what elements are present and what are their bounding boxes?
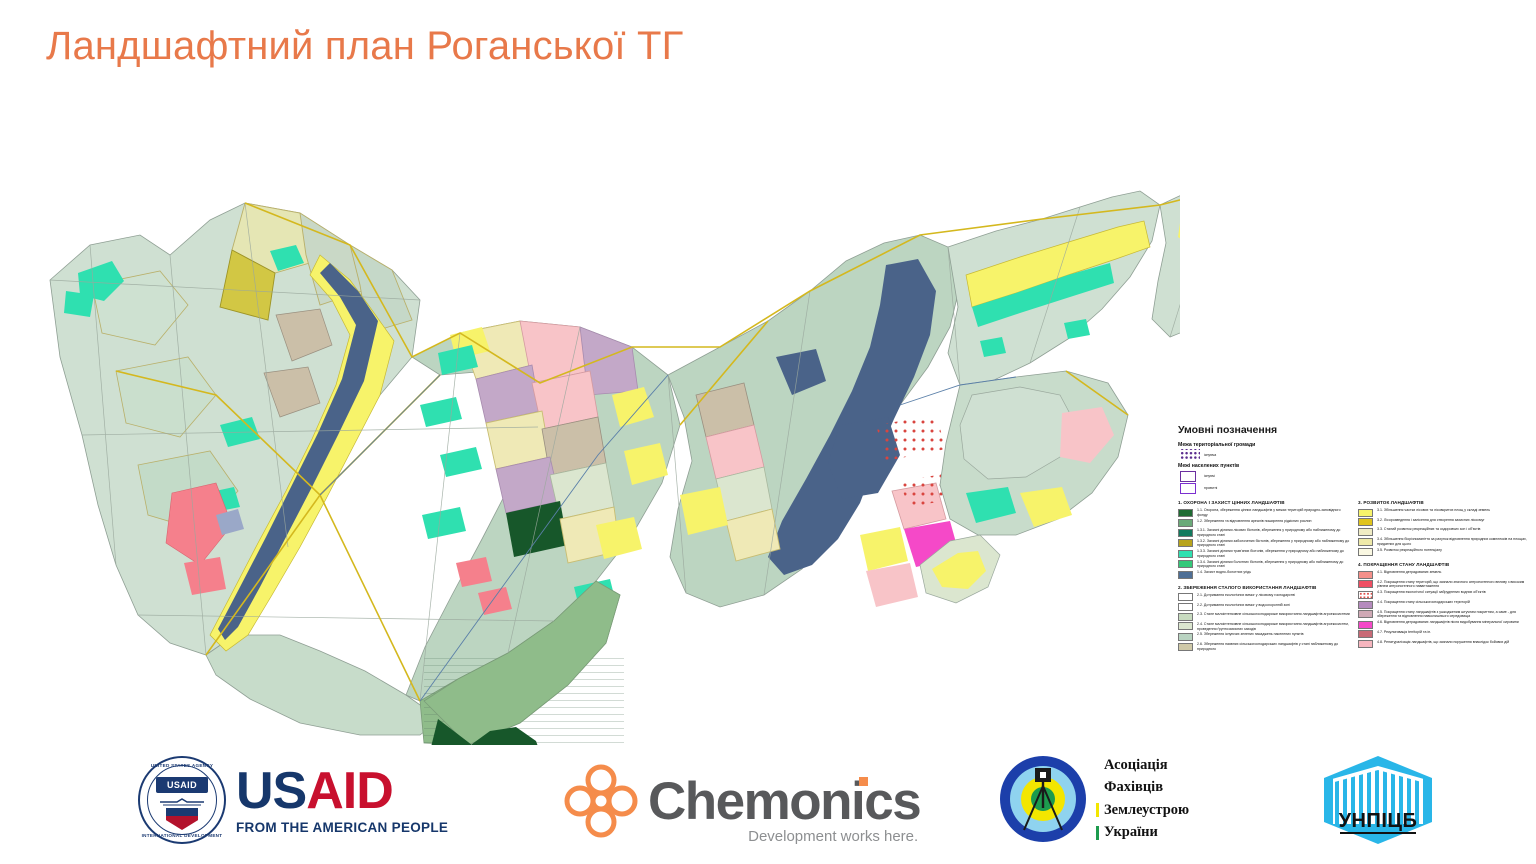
legend-item-label: 2.3. Стале малоінтенсивне сільськогоспод… bbox=[1197, 612, 1350, 617]
usaid-tagline: FROM THE AMERICAN PEOPLE bbox=[236, 820, 448, 835]
legend-item-label: 1.1. Охорона, збереження цінних ландшафт… bbox=[1197, 508, 1350, 517]
legend-item[interactable]: 4.7. Рекультивація territорій та ін. bbox=[1358, 630, 1530, 639]
legend-item-label: 2.2. Дотримання екологічних вимог у водо… bbox=[1197, 603, 1350, 608]
legend-item[interactable]: 2.3. Стале малоінтенсивне сільськогоспод… bbox=[1178, 612, 1350, 621]
dotted-boundary-icon bbox=[1180, 449, 1200, 460]
legend-item[interactable]: 3.1. Збільшення частки лісових та лісовк… bbox=[1358, 508, 1530, 517]
usaid-seal-bottom-text: INTERNATIONAL DEVELOPMENT bbox=[140, 833, 224, 838]
afzu-green-bar bbox=[1096, 826, 1099, 840]
dotted-color-swatch bbox=[1358, 591, 1373, 599]
color-swatch bbox=[1358, 518, 1373, 526]
usaid-word-aid: AID bbox=[306, 762, 393, 820]
legend-item[interactable]: 1.2. Збереження та відновлення ареалів п… bbox=[1178, 519, 1350, 528]
boundary-group-settlements: Межі населених пунктів bbox=[1178, 463, 1530, 469]
legend-item[interactable]: 1.3.4. Захисні ділянки болотних біотопів… bbox=[1178, 560, 1350, 569]
color-swatch bbox=[1178, 529, 1193, 537]
legend-item-label: 4.3. Покращення екологічної ситуації заб… bbox=[1377, 590, 1530, 595]
logo-bar: UNITED STATES AGENCY USAID INTERNATIONAL… bbox=[0, 748, 1536, 858]
legend-item[interactable]: 3.4. Збільшення біорізноманіття за рахун… bbox=[1358, 537, 1530, 546]
theodolite-icon bbox=[1000, 756, 1086, 842]
usaid-seal-icon: UNITED STATES AGENCY USAID INTERNATIONAL… bbox=[138, 756, 226, 844]
legend-item[interactable]: 3.3. Сталий розвиток рекреаційних та озд… bbox=[1358, 527, 1530, 536]
legend-item-label: 1.4. Захист водно-болотних угідь bbox=[1197, 570, 1350, 575]
box-boundary-icon bbox=[1180, 470, 1200, 481]
color-swatch bbox=[1358, 538, 1373, 546]
legend-item-label: 1.3.2. Захисні ділянки заболочених біото… bbox=[1197, 539, 1350, 548]
legend-item[interactable]: 1.3.1. Захисні ділянки лісових біотопів,… bbox=[1178, 528, 1350, 537]
color-swatch bbox=[1178, 613, 1193, 621]
legend-item[interactable]: 4.3. Покращення екологічної ситуації заб… bbox=[1358, 590, 1530, 599]
chemonics-tagline: Development works here. bbox=[748, 828, 918, 845]
afzu-logo: Асоціація Фахівців Землеустрою України bbox=[1000, 754, 1189, 844]
legend-item-label: 4.2. Покращення стану територій, що зазн… bbox=[1377, 580, 1530, 589]
page-title: Ландшафтний план Роганської ТГ bbox=[46, 24, 684, 69]
unpicb-logo: УНПІЦБ bbox=[1318, 754, 1438, 846]
landscape-map[interactable] bbox=[20, 95, 1180, 745]
legend-item-label: 2.4. Стале малоінтенсивне сільськогоспод… bbox=[1197, 622, 1350, 631]
legend-item-label: 2.6. Збереження наявних сільськогосподар… bbox=[1197, 642, 1350, 651]
usaid-word-us: US bbox=[236, 762, 306, 820]
legend-section-2-heading: 2. ЗБЕРЕЖЕННЯ СТАЛОГО ВИКОРИСТАННЯ ЛАНДШ… bbox=[1178, 585, 1350, 590]
legend-item[interactable]: 2.1. Дотримання екологічних вимог у лісо… bbox=[1178, 593, 1350, 602]
color-swatch bbox=[1358, 571, 1373, 579]
legend-item[interactable]: 2.5. Збереження існуючих зелених насадже… bbox=[1178, 632, 1350, 641]
afzu-yellow-bar bbox=[1096, 803, 1099, 817]
color-swatch bbox=[1358, 528, 1373, 536]
map-svg bbox=[20, 95, 1180, 745]
color-swatch bbox=[1178, 550, 1193, 558]
legend-item[interactable]: 1.1. Охорона, збереження цінних ландшафт… bbox=[1178, 508, 1350, 517]
legend-item[interactable]: 2.4. Стале малоінтенсивне сільськогоспод… bbox=[1178, 622, 1350, 631]
color-swatch bbox=[1358, 621, 1373, 629]
color-swatch bbox=[1358, 580, 1373, 588]
map-legend: Умовні позначення Межа територіальної гр… bbox=[1178, 424, 1530, 744]
usaid-logo: UNITED STATES AGENCY USAID INTERNATIONAL… bbox=[138, 756, 448, 844]
legend-item[interactable]: 4.5. Покращення стану ландшафтів з ушкод… bbox=[1358, 610, 1530, 619]
legend-item[interactable]: 4.8. Ренатуралізація ландшафтів, що зазн… bbox=[1358, 640, 1530, 649]
legend-section-3-items: 3.1. Збільшення частки лісових та лісовк… bbox=[1358, 508, 1530, 556]
legend-item-label: 3.5. Розвиток рекреаційного потенціалу bbox=[1377, 548, 1530, 553]
usaid-seal-top-text: UNITED STATES AGENCY bbox=[140, 763, 224, 768]
color-swatch bbox=[1178, 571, 1193, 579]
legend-item[interactable]: 2.6. Збереження наявних сільськогосподар… bbox=[1178, 642, 1350, 651]
boundary-label: існуюча bbox=[1204, 453, 1216, 457]
color-swatch bbox=[1178, 539, 1193, 547]
usaid-wordmark: USAID FROM THE AMERICAN PEOPLE bbox=[236, 765, 448, 835]
afzu-line-3: Землеустрою bbox=[1104, 799, 1189, 821]
legend-item-label: 4.1. Відновлення деградованих земель bbox=[1377, 570, 1530, 575]
legend-section-4-heading: 4. ПОКРАЩЕННЯ СТАНУ ЛАНДШАФТІВ bbox=[1358, 562, 1530, 567]
legend-item[interactable]: 4.4. Покращення стану сільськогосподарсь… bbox=[1358, 600, 1530, 609]
color-swatch bbox=[1358, 548, 1373, 556]
legend-section-2-items: 2.1. Дотримання екологічних вимог у лісо… bbox=[1178, 593, 1350, 652]
color-swatch bbox=[1178, 519, 1193, 527]
color-swatch bbox=[1358, 610, 1373, 618]
legend-item[interactable]: 1.3.3. Захисні ділянки трав'яних біотопі… bbox=[1178, 549, 1350, 558]
legend-item-label: 4.5. Покращення стану ландшафтів з ушкод… bbox=[1377, 610, 1530, 619]
legend-title: Умовні позначення bbox=[1178, 424, 1530, 436]
color-swatch bbox=[1358, 601, 1373, 609]
afzu-line-4: України bbox=[1104, 821, 1158, 843]
usaid-seal-word: USAID bbox=[167, 780, 197, 790]
legend-boundaries: Межа територіальної громади існуюча Межі… bbox=[1178, 442, 1530, 493]
boundary-item-settlement-existing[interactable]: існуючі bbox=[1180, 470, 1530, 481]
legend-item[interactable]: 4.6. Відновлення деградованих ландшафтів… bbox=[1358, 620, 1530, 629]
legend-item-label: 2.1. Дотримання екологічних вимог у лісо… bbox=[1197, 593, 1350, 598]
boundary-label: існуючі bbox=[1204, 474, 1215, 478]
chemonics-wordmark: Chemonics bbox=[648, 775, 920, 828]
legend-section-4-items: 4.1. Відновлення деградованих земель 4.2… bbox=[1358, 570, 1530, 648]
legend-item-label: 2.5. Збереження існуючих зелених насадже… bbox=[1197, 632, 1350, 637]
boundary-group-community: Межа територіальної громади bbox=[1178, 442, 1530, 448]
legend-column-left: 1. ОХОРОНА І ЗАХИСТ ЦІННИХ ЛАНДШАФТІВ 1.… bbox=[1178, 498, 1350, 653]
legend-item-label: 3.1. Збільшення частки лісових та лісовк… bbox=[1377, 508, 1530, 513]
color-swatch bbox=[1178, 622, 1193, 630]
color-swatch bbox=[1178, 509, 1193, 517]
legend-item-label: 3.2. Лісорозведення і залісення для ство… bbox=[1377, 518, 1530, 523]
unpicb-wordmark: УНПІЦБ bbox=[1318, 810, 1438, 833]
color-swatch bbox=[1178, 603, 1193, 611]
afzu-text-block: Асоціація Фахівців Землеустрою України bbox=[1096, 754, 1189, 844]
legend-item-label: 4.6. Відновлення деградованих ландшафтів… bbox=[1377, 620, 1530, 625]
legend-section-1-heading: 1. ОХОРОНА І ЗАХИСТ ЦІННИХ ЛАНДШАФТІВ bbox=[1178, 500, 1350, 505]
boundary-label: проектні bbox=[1204, 486, 1217, 490]
slide-root: Ландшафтний план Роганської ТГ bbox=[0, 0, 1536, 864]
color-swatch bbox=[1178, 560, 1193, 568]
legend-section-3-heading: 3. РОЗВИТОК ЛАНДШАФТІВ bbox=[1358, 500, 1530, 505]
handshake-icon bbox=[159, 797, 205, 806]
legend-item[interactable]: 4.2. Покращення стану територій, що зазн… bbox=[1358, 580, 1530, 589]
legend-item-label: 1.3.1. Захисні ділянки лісових біотопів,… bbox=[1197, 528, 1350, 537]
theodolite-badge-icon bbox=[1000, 756, 1086, 842]
legend-item[interactable]: 1.3.2. Захисні ділянки заболочених біото… bbox=[1178, 539, 1350, 548]
legend-item[interactable]: 3.2. Лісорозведення і залісення для ство… bbox=[1358, 518, 1530, 527]
legend-item-label: 1.3.3. Захисні ділянки трав'яних біотопі… bbox=[1197, 549, 1350, 558]
legend-section-1-items: 1.1. Охорона, збереження цінних ландшафт… bbox=[1178, 508, 1350, 579]
map-base-layer bbox=[50, 157, 1180, 745]
legend-item-label: 1.3.4. Захисні ділянки болотних біотопів… bbox=[1197, 560, 1350, 569]
color-swatch bbox=[1178, 643, 1193, 651]
chemonics-accent-dot bbox=[859, 777, 868, 786]
afzu-line-2: Фахівців bbox=[1104, 776, 1163, 798]
legend-columns: 1. ОХОРОНА І ЗАХИСТ ЦІННИХ ЛАНДШАФТІВ 1.… bbox=[1178, 498, 1530, 653]
chemonics-clover-icon bbox=[562, 762, 640, 840]
legend-item-label: 4.7. Рекультивація territорій та ін. bbox=[1377, 630, 1530, 635]
legend-item-label: 4.8. Ренатуралізація ландшафтів, що зазн… bbox=[1377, 640, 1530, 645]
chemonics-logo: Chemonics Development works here. bbox=[562, 762, 920, 840]
color-swatch bbox=[1178, 633, 1193, 641]
boundary-item-settlement-planned[interactable]: проектні bbox=[1180, 482, 1530, 493]
legend-item[interactable]: 3.5. Розвиток рекреаційного потенціалу bbox=[1358, 548, 1530, 557]
legend-item[interactable]: 4.1. Відновлення деградованих земель bbox=[1358, 570, 1530, 579]
legend-item-label: 1.2. Збереження та відновлення ареалів п… bbox=[1197, 519, 1350, 524]
legend-column-right: 3. РОЗВИТОК ЛАНДШАФТІВ 3.1. Збільшення ч… bbox=[1358, 498, 1530, 653]
color-swatch bbox=[1178, 593, 1193, 601]
legend-item[interactable]: 1.4. Захист водно-болотних угідь bbox=[1178, 570, 1350, 579]
legend-item-label: 3.4. Збільшення біорізноманіття за рахун… bbox=[1377, 537, 1530, 546]
color-swatch bbox=[1358, 509, 1373, 517]
boundary-item-community-existing[interactable]: існуюча bbox=[1180, 449, 1530, 460]
legend-item-label: 3.3. Сталий розвиток рекреаційних та озд… bbox=[1377, 527, 1530, 532]
color-swatch bbox=[1358, 640, 1373, 648]
color-swatch bbox=[1358, 630, 1373, 638]
legend-item[interactable]: 2.2. Дотримання екологічних вимог у водо… bbox=[1178, 603, 1350, 612]
box-boundary-planned-icon bbox=[1180, 482, 1200, 493]
afzu-line-1: Асоціація bbox=[1104, 754, 1168, 776]
legend-item-label: 4.4. Покращення стану сільськогосподарсь… bbox=[1377, 600, 1530, 605]
